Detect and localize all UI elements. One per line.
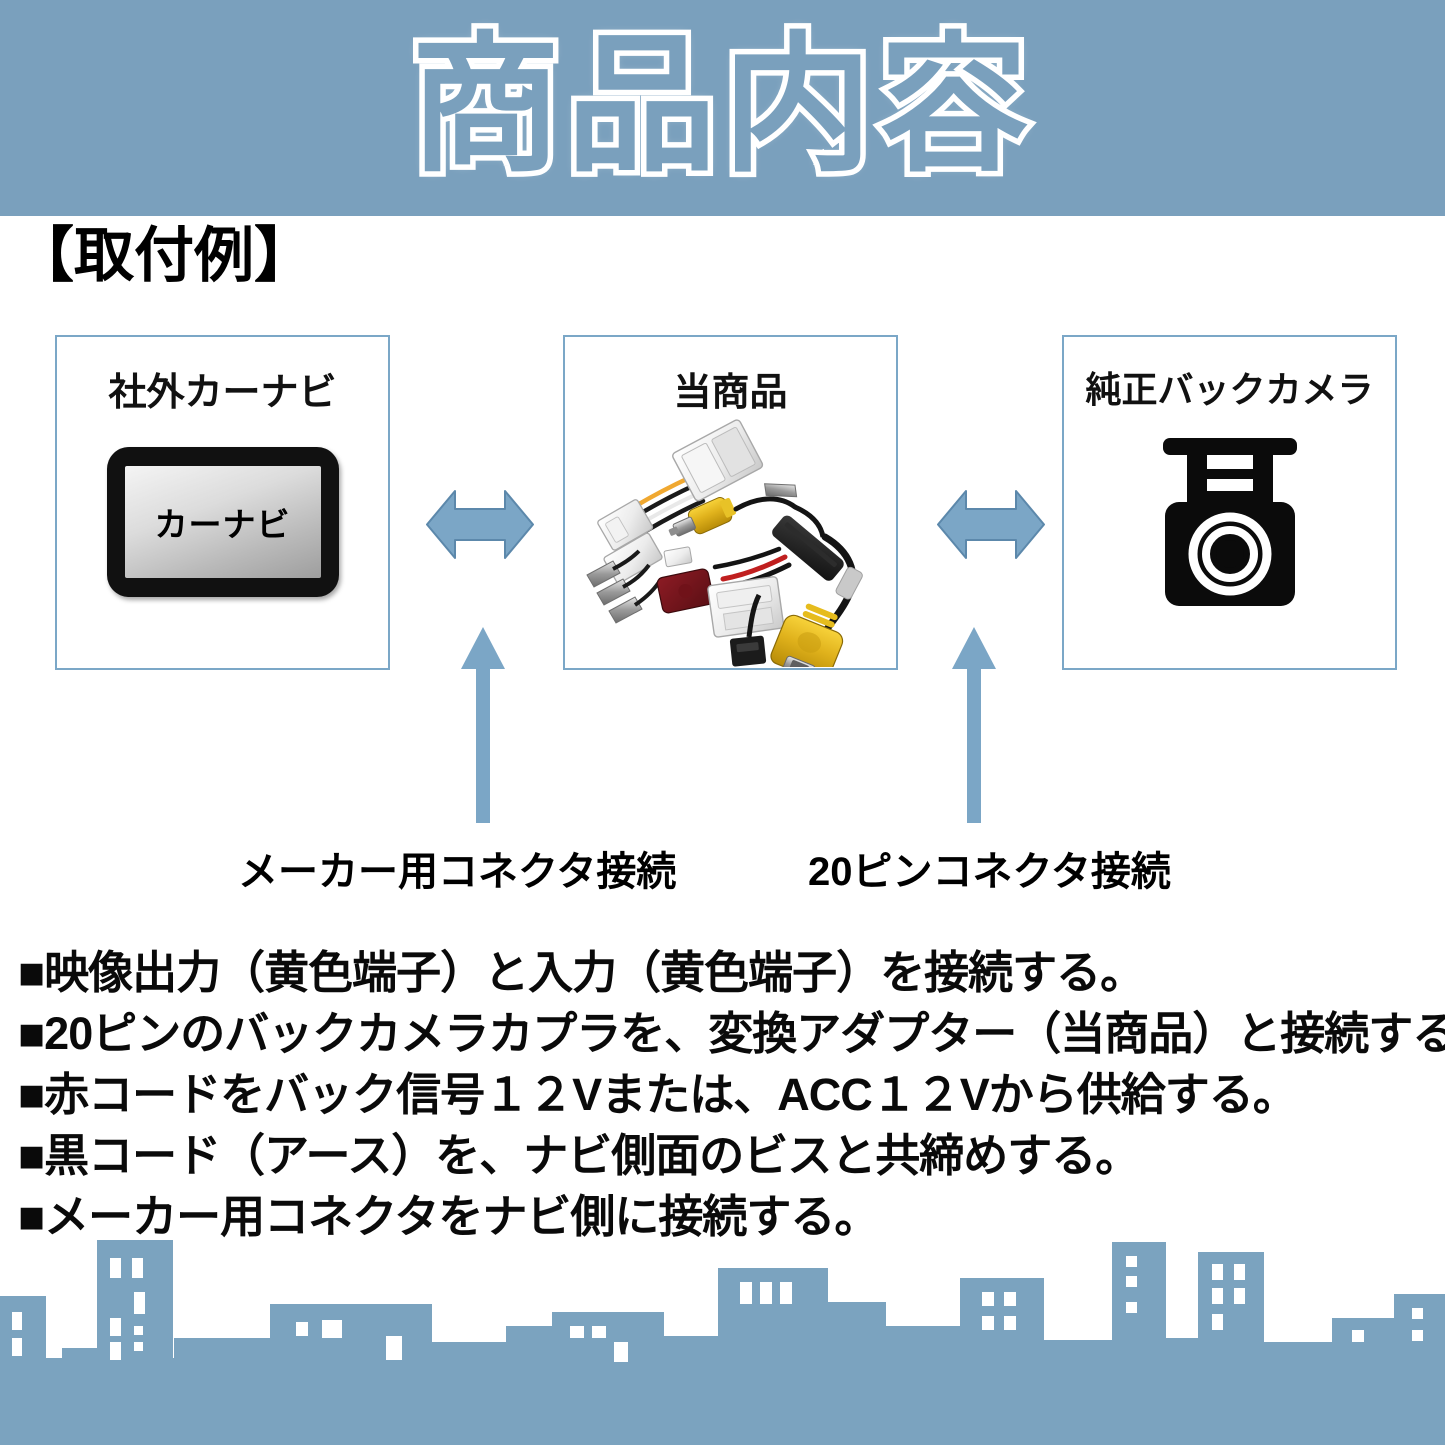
double-arrow-right — [936, 477, 1046, 572]
panel-aftermarket-navi: 社外カーナビ カーナビ — [55, 335, 390, 670]
header-banner: 商品内容 — [0, 0, 1445, 216]
caption-20pin-connector: 20ピンコネクタ接続 — [808, 839, 1171, 897]
page-title: 商品内容 — [410, 30, 1034, 180]
section-heading-installation-example: 【取付例】 — [14, 226, 314, 286]
car-navigation-icon: カーナビ — [107, 447, 339, 597]
caption-maker-connector: メーカー用コネクタ接続 — [238, 839, 676, 897]
navi-screen-label: カーナビ — [155, 498, 291, 546]
panel-title-genuine-back-camera: 純正バックカメラ — [1064, 361, 1395, 413]
instruction-item: ■20ピンのバックカメラカプラを、変換アダプター（当商品）と接続する。 — [18, 1003, 1438, 1064]
city-skyline-illustration — [0, 1230, 1445, 1445]
panel-title-aftermarket-navi: 社外カーナビ — [57, 361, 388, 416]
panel-genuine-back-camera: 純正バックカメラ — [1062, 335, 1397, 670]
wiring-harness-photo — [573, 397, 893, 667]
instruction-item: ■黒コード（アース）を、ナビ側面のビスと共締めする。 — [18, 1125, 1438, 1186]
instruction-item: ■映像出力（黄色端子）と入力（黄色端子）を接続する。 — [18, 942, 1438, 1003]
double-arrow-left — [425, 477, 535, 572]
navi-screen: カーナビ — [125, 466, 321, 578]
installation-diagram: 社外カーナビ カーナビ 当商品 — [0, 335, 1445, 835]
panel-this-product: 当商品 — [563, 335, 898, 670]
up-arrow-maker-connector — [459, 625, 507, 825]
instruction-list: ■映像出力（黄色端子）と入力（黄色端子）を接続する。 ■20ピンのバックカメラカ… — [18, 942, 1438, 1247]
up-arrow-20pin-connector — [950, 625, 998, 825]
instruction-item: ■赤コードをバック信号１２Vまたは、ACC１２Vから供給する。 — [18, 1064, 1438, 1125]
back-camera-icon — [1135, 432, 1325, 617]
